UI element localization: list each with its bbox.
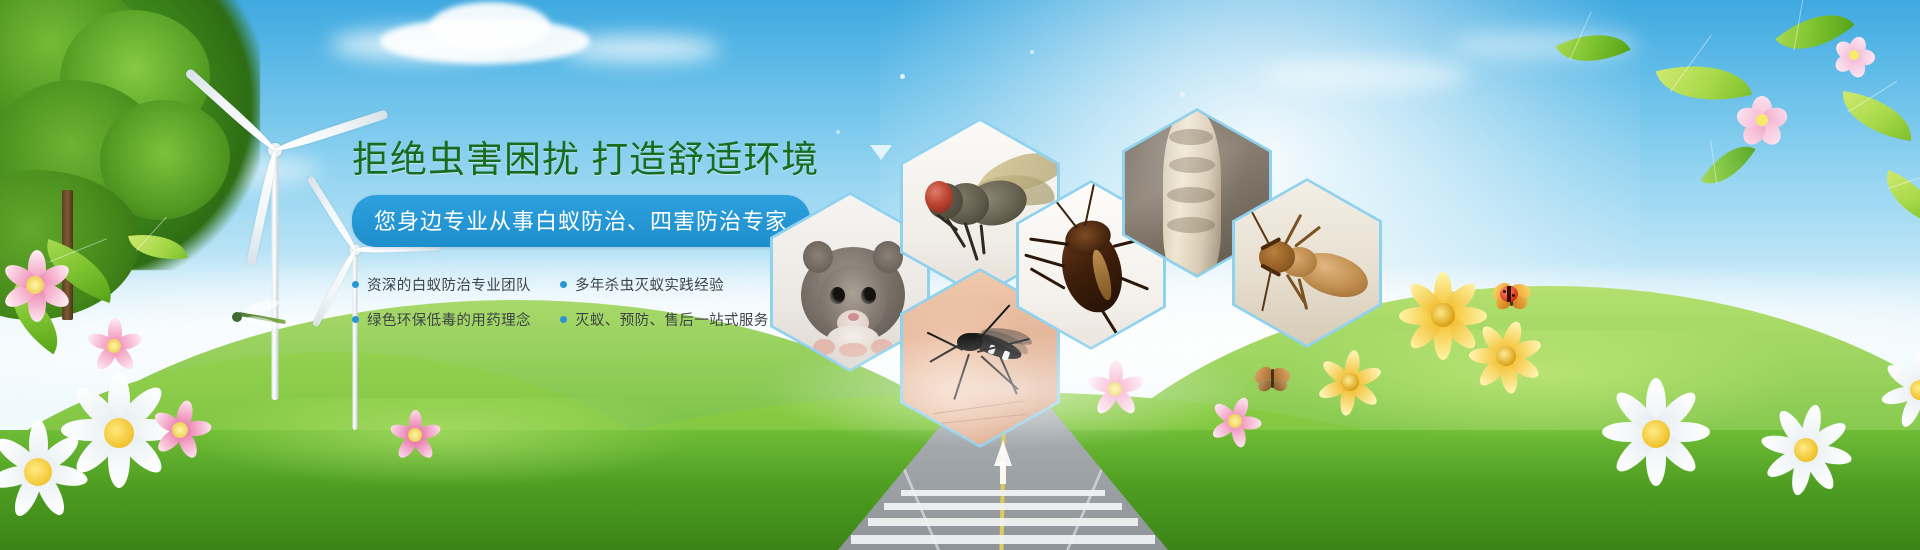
cloud xyxy=(1260,58,1470,92)
bullet-dot-icon xyxy=(352,316,359,323)
feature-bullet: 资深的白蚁防治专业团队 xyxy=(352,274,552,295)
daisy-flower xyxy=(1760,404,1852,496)
pest-hexagon-cluster xyxy=(760,100,1560,430)
crosswalk-stripe xyxy=(901,490,1106,496)
sparkle xyxy=(1180,92,1185,97)
feature-bullet-label: 灭蚁、预防、售后一站式服务 xyxy=(575,309,769,330)
yellow-flower xyxy=(1470,320,1542,392)
windmill-blade xyxy=(306,175,358,252)
banner-headline: 拒绝虫害困扰 打造舒适环境 xyxy=(352,140,822,181)
banner-copy: 拒绝虫害困扰 打造舒适环境 您身边专业从事白蚁防治、四害防治专家 资深的白蚁防治… xyxy=(352,140,822,330)
feature-bullet-label: 多年杀虫灭蚁实践经验 xyxy=(575,274,724,295)
road-arrow-icon xyxy=(994,440,1012,466)
pest-control-banner: 拒绝虫害困扰 打造舒适环境 您身边专业从事白蚁防治、四害防治专家 资深的白蚁防治… xyxy=(0,0,1920,550)
daisy-flower xyxy=(1600,378,1710,488)
feature-bullet-label: 资深的白蚁防治专业团队 xyxy=(367,274,531,295)
banner-subtitle-pill: 您身边专业从事白蚁防治、四害防治专家 xyxy=(352,195,810,247)
blossom-decoration xyxy=(1740,96,1784,140)
yellow-flower xyxy=(1318,350,1382,414)
daisy-flower xyxy=(0,420,90,524)
sparkle xyxy=(836,130,840,134)
leaf-decoration xyxy=(1838,91,1917,141)
grass-highlight xyxy=(180,398,700,488)
feature-bullet-list: 资深的白蚁防治专业团队 多年杀虫灭蚁实践经验 绿色环保低毒的用药理念 灭蚁、预防… xyxy=(352,274,822,330)
feature-bullet: 灭蚁、预防、售后一站式服务 xyxy=(560,309,770,330)
feature-bullet: 多年杀虫灭蚁实践经验 xyxy=(560,274,770,295)
windmill-pole xyxy=(272,150,279,400)
cloud xyxy=(330,30,500,60)
butterfly-icon xyxy=(1254,366,1292,396)
sparkle xyxy=(900,74,905,79)
feature-bullet: 绿色环保低毒的用药理念 xyxy=(352,309,552,330)
pink-flower xyxy=(150,400,210,460)
leaf-decoration xyxy=(1876,170,1920,224)
daisy-flower xyxy=(1880,350,1920,430)
pink-flower xyxy=(1086,360,1144,418)
triangle-marker-icon xyxy=(870,145,892,160)
pink-flower xyxy=(86,318,142,374)
feature-bullet-label: 绿色环保低毒的用药理念 xyxy=(367,309,531,330)
pink-flower xyxy=(390,410,440,460)
pink-flower xyxy=(0,250,70,320)
leaf-decoration xyxy=(1656,50,1753,116)
blossom-decoration xyxy=(1836,36,1872,72)
crosswalk-stripe xyxy=(868,518,1139,526)
leaf-decoration xyxy=(1555,17,1630,78)
bullet-dot-icon xyxy=(560,316,567,323)
ladybug-icon xyxy=(1500,286,1518,302)
pink-flower xyxy=(1210,396,1260,446)
bullet-dot-icon xyxy=(560,281,567,288)
cloud xyxy=(560,36,720,62)
bullet-dot-icon xyxy=(352,281,359,288)
sparkle xyxy=(1030,50,1034,54)
dragonfly-icon xyxy=(226,300,296,334)
windmill xyxy=(240,150,310,400)
crosswalk-stripe xyxy=(851,535,1155,544)
